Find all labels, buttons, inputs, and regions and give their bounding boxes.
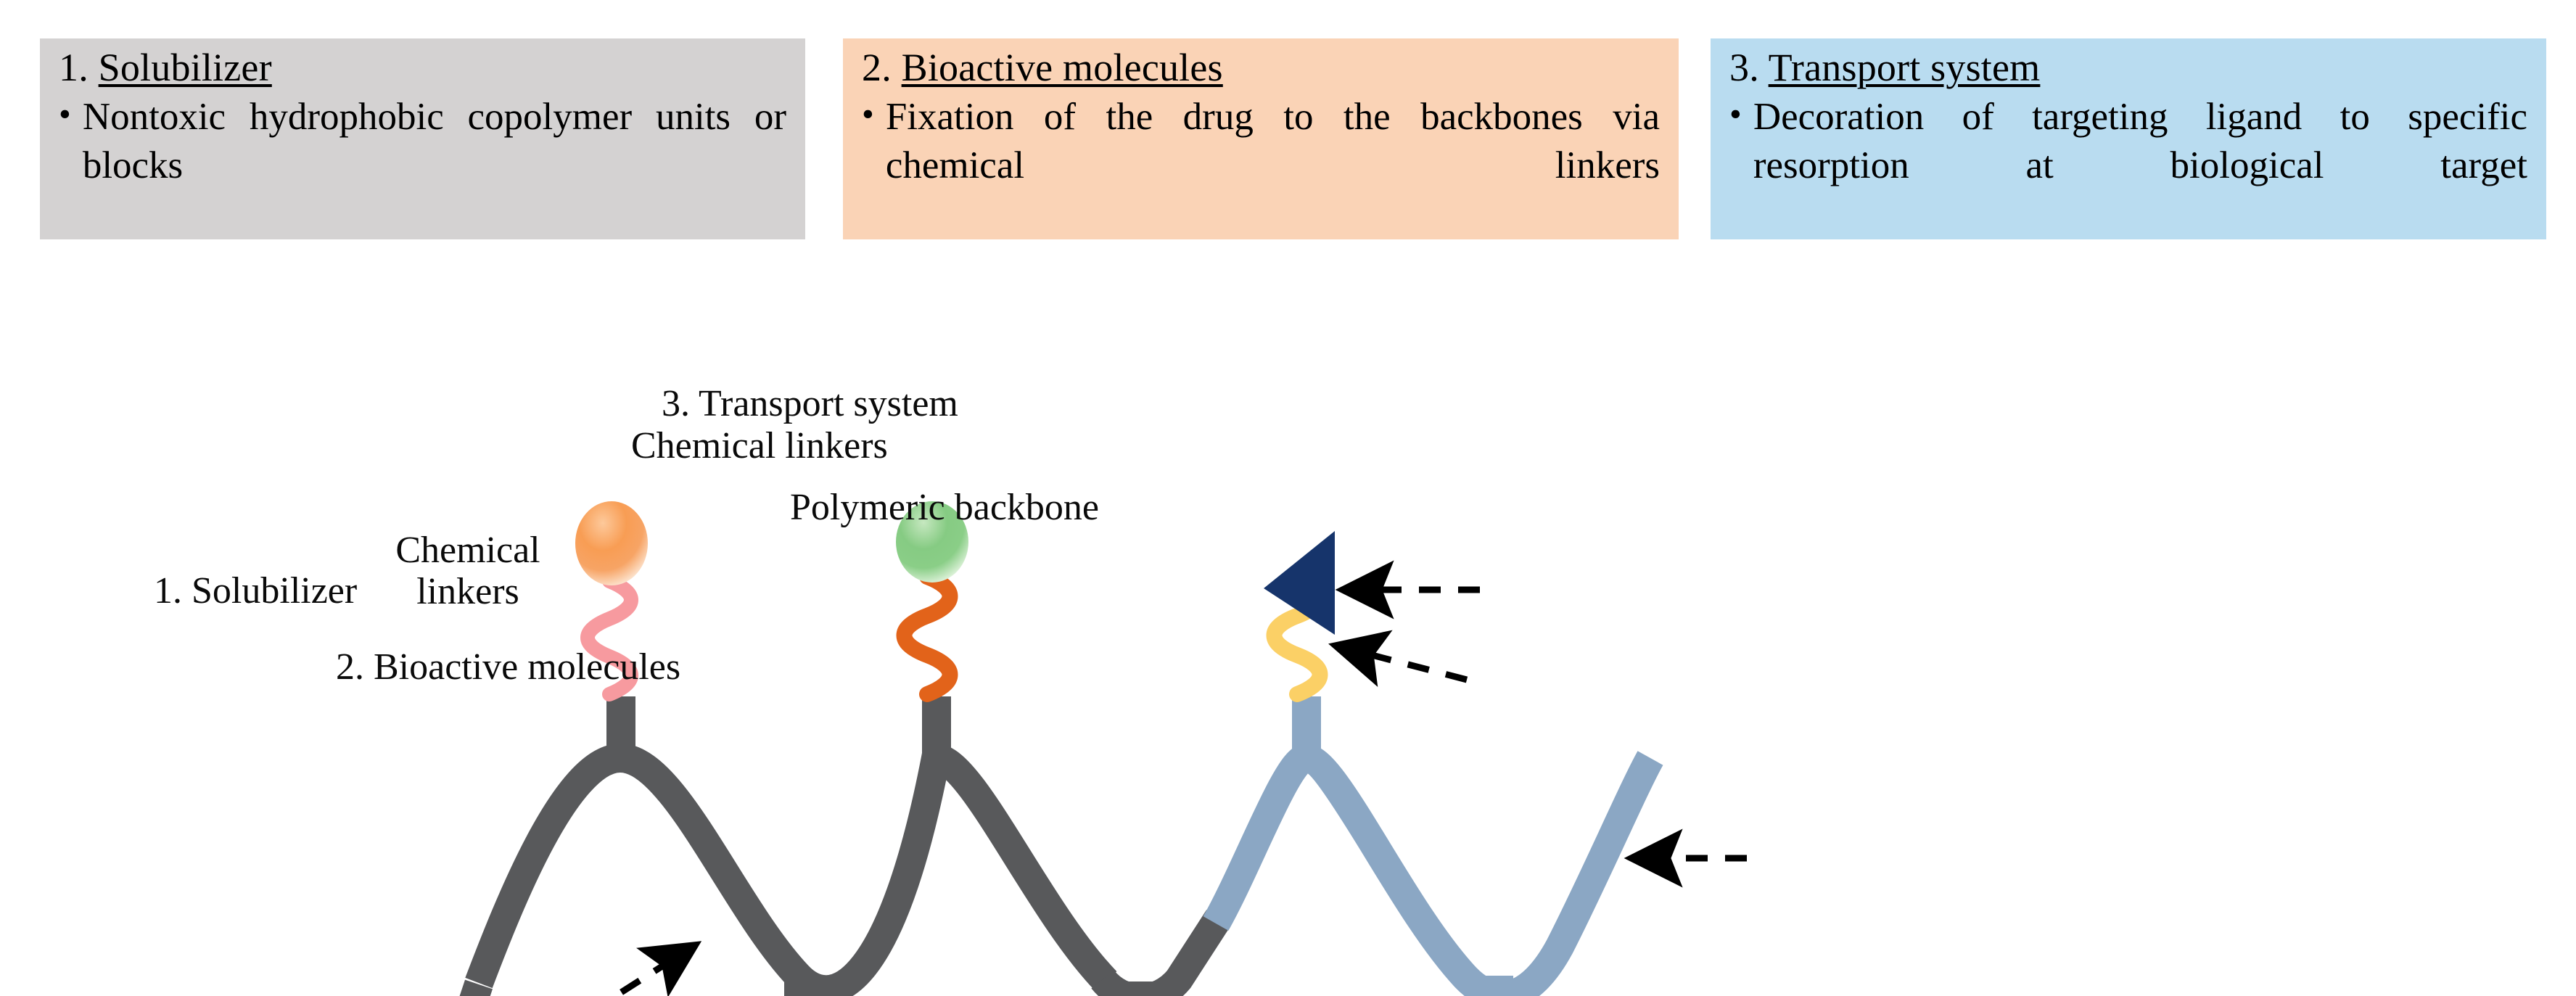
info-box-title: 2. Bioactive molecules [862, 46, 1660, 89]
label-bioactive-molecules: 2. Bioactive molecules [336, 646, 680, 688]
stub-bottom-left [784, 972, 813, 996]
info-box-number: 1. [59, 46, 89, 89]
polymer-conjugate-diagram: 1. Solubilizer Chemical linkers 2. Bioac… [0, 250, 2576, 996]
info-box-bullet-text: Nontoxic hydrophobic copolymer units or … [83, 93, 786, 237]
stub-top-right [1292, 696, 1321, 763]
label-chemical-linkers-center: Chemical linkers [377, 530, 559, 612]
stub-top-left [606, 696, 635, 763]
stub-bottom-right [1484, 976, 1513, 996]
info-box-row: 1. Solubilizer • Nontoxic hydrophobic co… [0, 0, 2576, 250]
label-chemical-linkers-line2: linkers [416, 571, 519, 612]
info-box-title-text: Solubilizer [99, 46, 272, 89]
label-solubilizer: 1. Solubilizer [154, 569, 357, 612]
info-box-body: • Fixation of the drug to the backbones … [862, 93, 1660, 237]
backbone-gray-segment [479, 758, 1106, 989]
info-box-body: • Decoration of targeting ligand to spec… [1729, 93, 2527, 237]
bullet-icon: • [1729, 93, 1753, 237]
info-box-title-text: Bioactive molecules [902, 46, 1223, 89]
stub-bottom-mid [1127, 981, 1156, 996]
label-polymeric-backbone: Polymeric backbone [790, 486, 1099, 529]
info-box-number: 2. [862, 46, 892, 89]
bullet-icon: • [862, 93, 886, 237]
info-box-number: 3. [1729, 46, 1759, 89]
polymeric-backbone [473, 758, 1650, 996]
backbone-blue-segment [1216, 758, 1650, 996]
label-chemical-linkers-line1: Chemical [395, 530, 540, 571]
arrow-chem-linker-right [1338, 646, 1467, 680]
info-box-title: 3. Transport system [1729, 46, 2527, 89]
info-box-solubilizer: 1. Solubilizer • Nontoxic hydrophobic co… [40, 38, 805, 239]
info-box-bullet-text: Fixation of the drug to the backbones vi… [886, 93, 1660, 237]
diagram-canvas [0, 250, 2576, 996]
info-box-bioactive-molecules: 2. Bioactive molecules • Fixation of the… [843, 38, 1679, 239]
orange-sphere-top-left [575, 501, 648, 585]
label-chemical-linkers-right: Chemical linkers [631, 424, 888, 467]
bullet-icon: • [59, 93, 83, 237]
backbone-gray-valley2 [1103, 918, 1219, 996]
stub-top-mid [922, 696, 951, 763]
label-transport-system: 3. Transport system [662, 382, 958, 425]
info-box-transport-system: 3. Transport system • Decoration of targ… [1711, 38, 2546, 239]
chemical-linker-coil-orange-top [905, 577, 950, 694]
info-box-title-text: Transport system [1769, 46, 2041, 89]
info-box-body: • Nontoxic hydrophobic copolymer units o… [59, 93, 786, 237]
info-box-title: 1. Solubilizer [59, 46, 786, 89]
info-box-bullet-text: Decoration of targeting ligand to specif… [1753, 93, 2527, 237]
arrow-solubilizer [522, 947, 693, 996]
backbone-gray-left-tail [473, 984, 479, 996]
